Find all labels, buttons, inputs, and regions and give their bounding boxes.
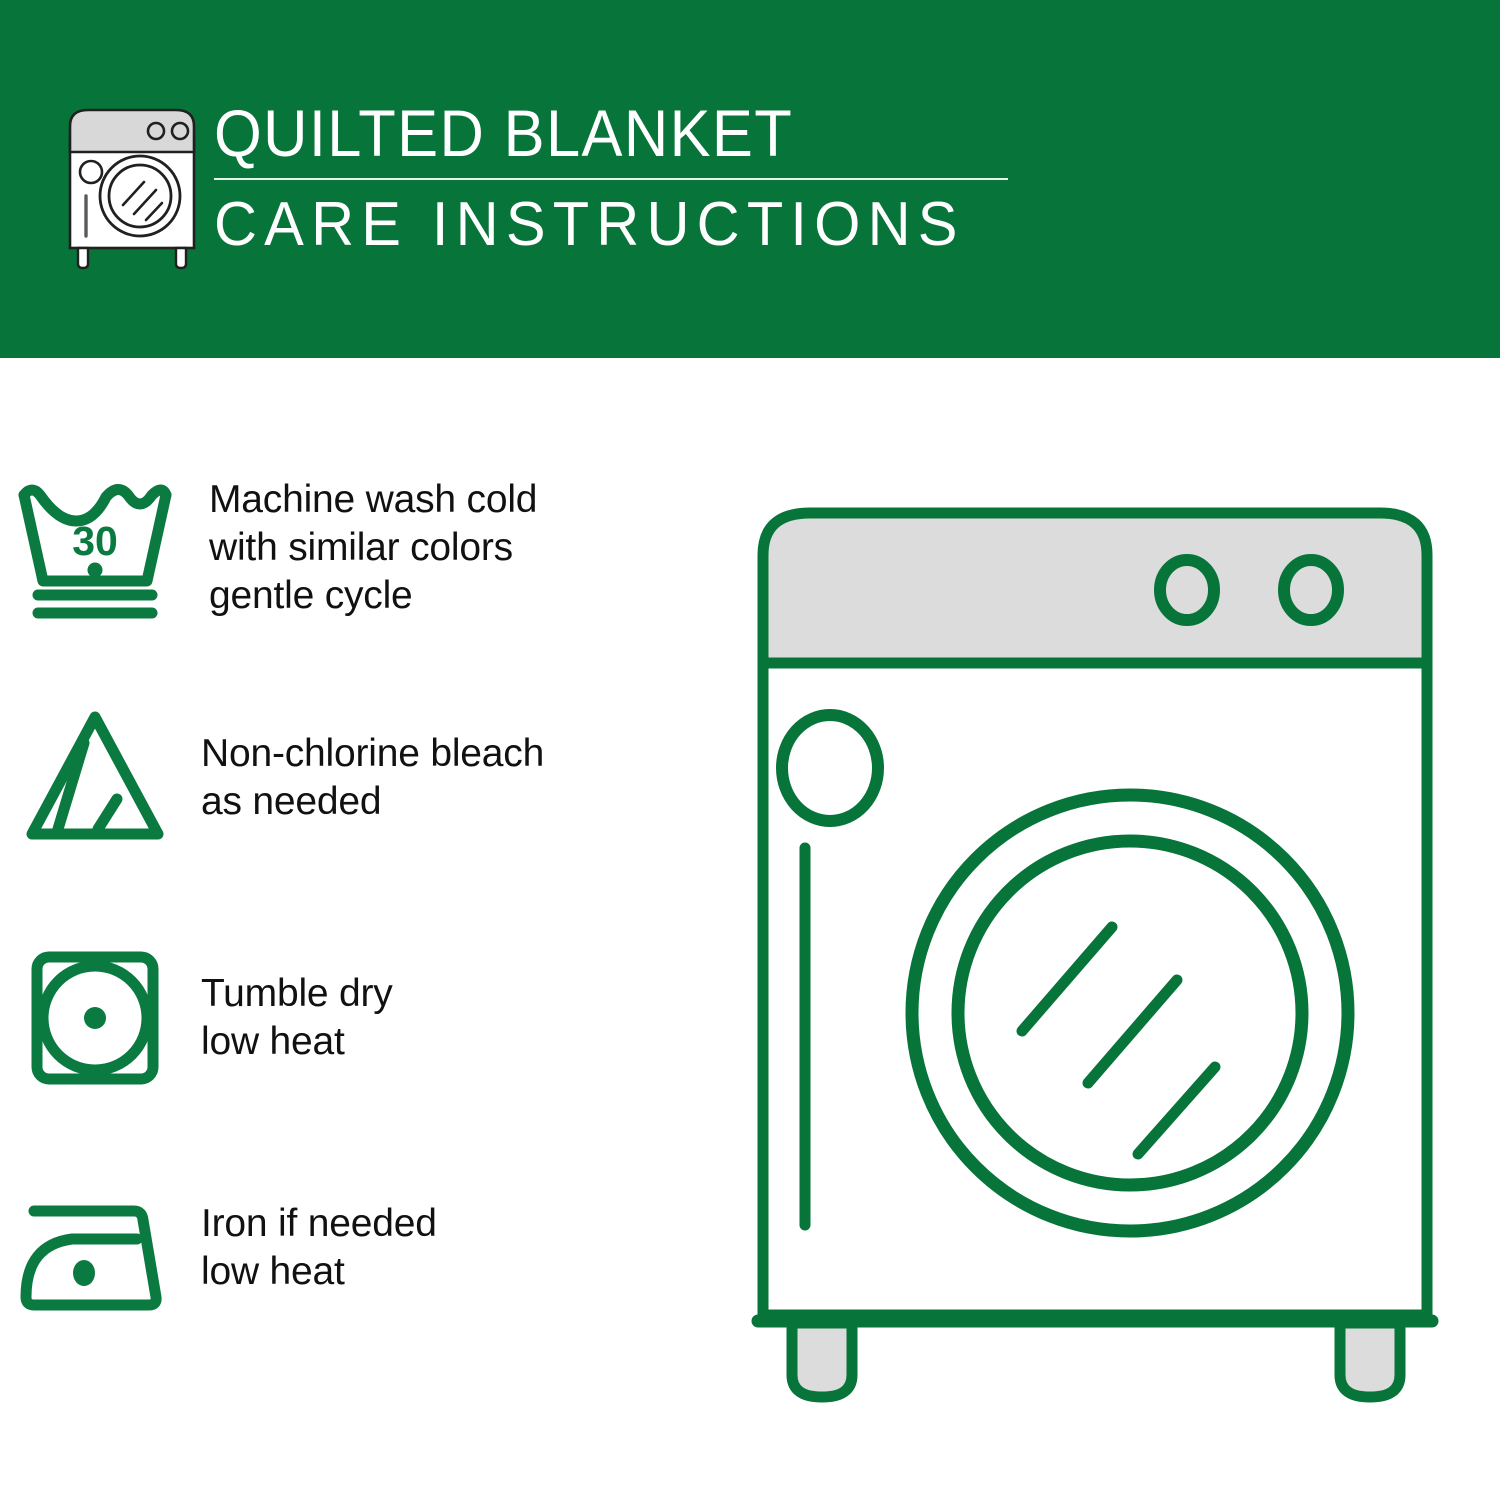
header-text-block: QUILTED BLANKET CARE INSTRUCTIONS xyxy=(214,100,1024,259)
leg-left xyxy=(792,1323,852,1397)
care-instructions-page: QUILTED BLANKET CARE INSTRUCTIONS 30 xyxy=(0,0,1500,1500)
page-subtitle: CARE INSTRUCTIONS xyxy=(214,192,992,259)
instructions-list: 30 Machine wash cold with similar colors… xyxy=(0,358,720,1500)
instruction-row-wash: 30 Machine wash cold with similar colors… xyxy=(0,458,720,638)
instruction-text-bleach: Non-chlorine bleach as needed xyxy=(190,730,544,826)
tumble-dry-icon xyxy=(0,928,190,1108)
page-title: QUILTED BLANKET xyxy=(214,100,967,166)
svg-text:30: 30 xyxy=(72,518,118,564)
iron-icon xyxy=(0,1158,190,1338)
bleach-triangle-icon xyxy=(0,688,190,868)
instruction-text-iron: Iron if needed low heat xyxy=(190,1200,437,1296)
washing-machine-illustration xyxy=(740,495,1450,1415)
title-divider xyxy=(214,178,1008,180)
instruction-text-tumble-dry: Tumble dry low heat xyxy=(190,970,393,1066)
instruction-text-wash: Machine wash cold with similar colors ge… xyxy=(190,476,537,620)
leg-right xyxy=(1340,1323,1400,1397)
washing-machine-icon xyxy=(62,104,202,272)
wash-tub-30-icon: 30 xyxy=(0,458,190,638)
instruction-row-bleach: Non-chlorine bleach as needed xyxy=(0,688,720,868)
instruction-row-iron: Iron if needed low heat xyxy=(0,1158,720,1338)
instruction-row-tumble-dry: Tumble dry low heat xyxy=(0,928,720,1108)
header-banner: QUILTED BLANKET CARE INSTRUCTIONS xyxy=(0,0,1500,358)
